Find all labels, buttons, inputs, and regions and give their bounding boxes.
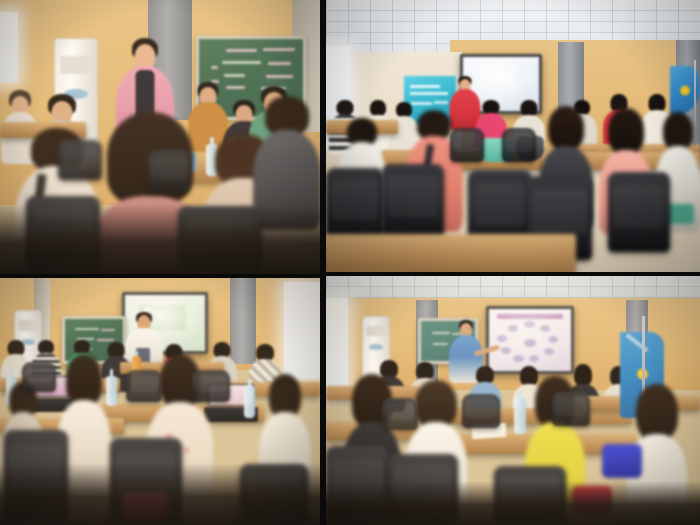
- chair: [462, 394, 500, 428]
- chair: [382, 398, 418, 430]
- chair: [58, 140, 102, 180]
- foreground-shadow: [326, 481, 700, 525]
- foreground-shadow: [0, 204, 320, 274]
- chair: [608, 172, 670, 252]
- chair: [450, 128, 484, 162]
- classroom-scene-top-left: [0, 0, 320, 274]
- chair: [22, 362, 56, 392]
- photo-bottom-right[interactable]: Male trainer in blue t-shirt gesturing t…: [326, 276, 700, 525]
- blue-object: [602, 444, 642, 478]
- window: [0, 12, 18, 82]
- photo-bottom-left[interactable]: Male trainer in white t-shirt pointing a…: [0, 278, 320, 525]
- classroom-scene-bottom-right: [326, 276, 700, 525]
- chair: [192, 370, 230, 402]
- chair: [552, 392, 590, 426]
- foreground-table: [326, 234, 576, 272]
- chair: [502, 128, 536, 162]
- chair: [326, 168, 384, 242]
- classroom-scene-top-right: [326, 0, 700, 272]
- photo-top-left[interactable]: Female instructor in pink blazer address…: [0, 0, 320, 274]
- chair: [382, 164, 444, 240]
- photo-collage: Female instructor in pink blazer address…: [0, 0, 700, 525]
- chair: [148, 150, 190, 192]
- water-bottle: [244, 386, 255, 418]
- foreground-shadow: [0, 463, 320, 525]
- chair: [126, 370, 162, 402]
- photo-top-right[interactable]: Male presenter in red t-shirt standing b…: [326, 0, 700, 272]
- projector-screen: [486, 306, 574, 374]
- classroom-scene-bottom-left: [0, 278, 320, 525]
